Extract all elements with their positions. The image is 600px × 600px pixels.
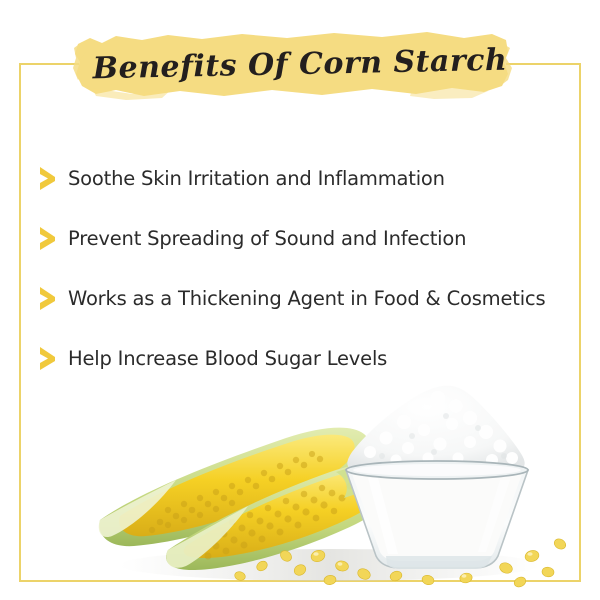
list-item-label: Soothe Skin Irritation and Inflammation [68, 167, 445, 190]
corn-starch-photo [0, 360, 600, 600]
list-item: Prevent Spreading of Sound and Infection [38, 208, 578, 268]
list-item: Soothe Skin Irritation and Inflammation [38, 148, 578, 208]
infographic-canvas: Benefits Of Corn Starch Soothe Skin Irri… [0, 0, 600, 600]
list-item: Works as a Thickening Agent in Food & Co… [38, 268, 578, 328]
corn-starch-bowl [346, 386, 528, 569]
title-banner-brushstroke: Benefits Of Corn Starch [72, 28, 512, 102]
chevron-right-icon [38, 285, 60, 311]
list-item-label: Works as a Thickening Agent in Food & Co… [68, 287, 545, 310]
list-item-label: Prevent Spreading of Sound and Infection [68, 227, 466, 250]
chevron-right-icon [38, 165, 60, 191]
benefits-list: Soothe Skin Irritation and Inflammation … [38, 148, 578, 388]
page-title: Benefits Of Corn Starch [0, 22, 600, 109]
chevron-right-icon [38, 225, 60, 251]
